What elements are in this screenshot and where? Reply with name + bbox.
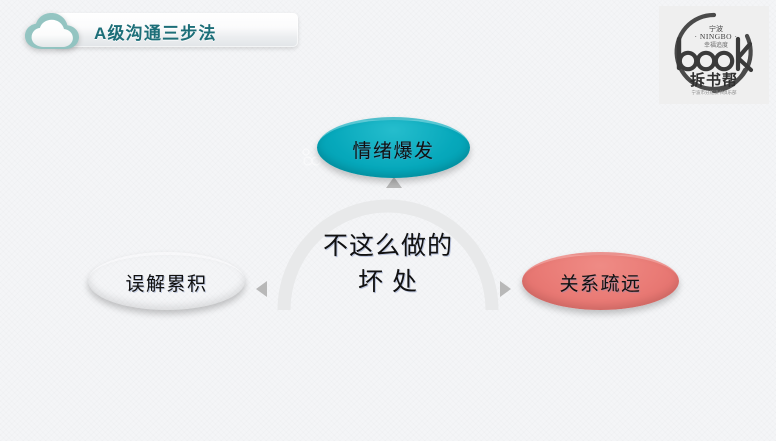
company-logo: 宁波 · NINGBO · 幸福追度 拆书帮 宁波市分舵读书俱乐部 bbox=[659, 6, 769, 104]
center-label-line1: 不这么做的 bbox=[288, 228, 488, 264]
center-label: 不这么做的 坏 处 bbox=[288, 228, 488, 300]
node-emotional-outburst[interactable]: 情绪爆发 bbox=[317, 117, 470, 178]
svg-text:· NINGBO ·: · NINGBO · bbox=[695, 32, 738, 41]
svg-text:幸福追度: 幸福追度 bbox=[704, 41, 728, 49]
svg-text:拆书帮: 拆书帮 bbox=[690, 71, 738, 89]
node-right-label: 关系疏远 bbox=[559, 269, 641, 296]
node-relationship-distance[interactable]: 关系疏远 bbox=[522, 252, 679, 310]
cloud-icon bbox=[22, 10, 84, 54]
slide-canvas: A级沟通三步法 宁波 bbox=[0, 0, 776, 441]
title-banner: A级沟通三步法 bbox=[22, 10, 298, 50]
arrow-right-icon bbox=[500, 281, 511, 297]
node-misunderstanding-buildup[interactable]: 误解累积 bbox=[88, 252, 245, 310]
center-label-line2: 坏 处 bbox=[288, 264, 488, 300]
arrow-left-icon bbox=[256, 281, 267, 297]
page-title: A级沟通三步法 bbox=[94, 19, 314, 44]
node-top-label: 情绪爆发 bbox=[352, 136, 434, 163]
arrow-up-icon bbox=[386, 177, 402, 188]
svg-text:宁波市分舵读书俱乐部: 宁波市分舵读书俱乐部 bbox=[692, 89, 737, 96]
node-left-label: 误解累积 bbox=[125, 269, 207, 296]
